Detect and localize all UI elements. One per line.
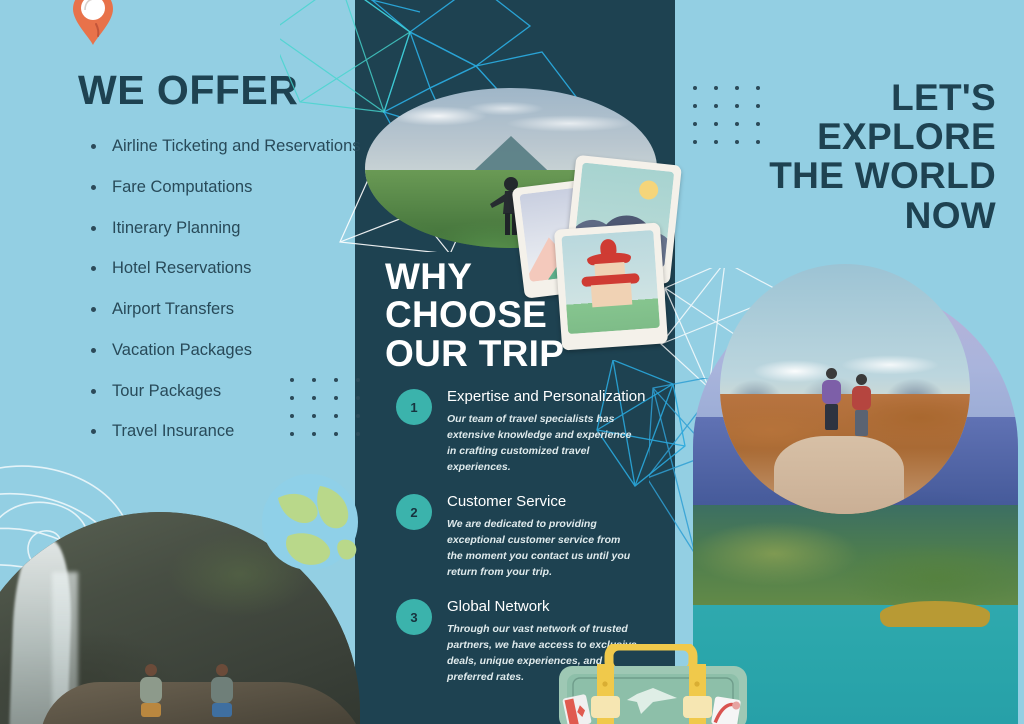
explore-line-2: EXPLORE	[686, 117, 996, 156]
hikers-circle-photo	[720, 264, 970, 514]
why-line-3: OUR TRIP	[385, 335, 655, 373]
why-choose-heading: WHY CHOOSE OUR TRIP	[385, 258, 655, 373]
list-item: Hotel Reservations	[88, 258, 363, 280]
feature-item: 2 Customer Service We are dedicated to p…	[383, 490, 673, 581]
feature-title: Expertise and Personalization	[447, 385, 673, 407]
feature-number-badge: 2	[396, 494, 432, 530]
center-column: WHY CHOOSE OUR TRIP 1 Expertise and Pers…	[355, 0, 675, 724]
hiker-figure	[818, 368, 844, 430]
explore-line-3: THE WORLD	[686, 156, 996, 195]
feature-description: We are dedicated to providing exceptiona…	[447, 517, 637, 581]
map-pin-icon	[72, 0, 114, 46]
globe-icon	[258, 468, 363, 573]
suitcase-sticker	[711, 696, 741, 724]
dot-grid-left-decoration	[290, 378, 360, 450]
we-offer-heading: WE OFFER	[78, 70, 298, 111]
brochure-page: WE OFFER Airline Ticketing and Reservati…	[0, 0, 1024, 724]
suitcase-icon	[553, 644, 753, 724]
right-column: LET'S EXPLORE THE WORLD NOW	[675, 0, 1024, 724]
list-item: Vacation Packages	[88, 340, 363, 362]
list-item: Airport Transfers	[88, 299, 363, 321]
explore-line-1: LET'S	[686, 78, 996, 117]
feature-title: Customer Service	[447, 490, 673, 512]
feature-title: Global Network	[447, 595, 673, 617]
feature-item: 1 Expertise and Personalization Our team…	[383, 385, 673, 476]
why-line-1: WHY	[385, 258, 655, 296]
lets-explore-heading: LET'S EXPLORE THE WORLD NOW	[686, 78, 996, 235]
hiker-figure	[848, 374, 874, 432]
feature-number-badge: 3	[396, 599, 432, 635]
why-line-2: CHOOSE	[385, 296, 655, 334]
feature-description: Our team of travel specialists has exten…	[447, 412, 637, 476]
explore-line-4: NOW	[686, 196, 996, 235]
feature-number-badge: 1	[396, 389, 432, 425]
